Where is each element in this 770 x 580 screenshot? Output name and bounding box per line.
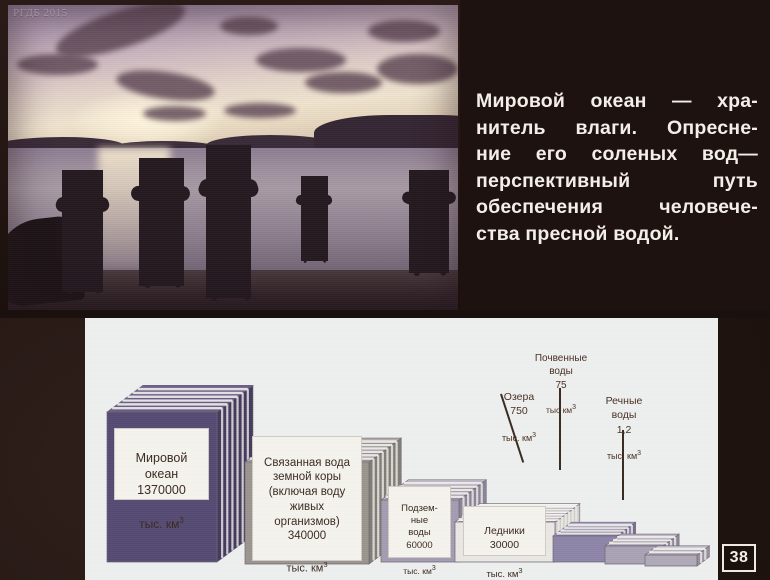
callout-unit: тыс. км [607,451,637,461]
bar-label-unit-row: тыс. км3 [389,554,450,577]
caption-line: обеспечения человече- [466,194,764,221]
unit-superscript: 3 [179,516,183,525]
photo-figure-silhouette [301,176,328,261]
unit-superscript: 3 [532,432,536,439]
photo-cloud [256,48,346,72]
bar-label-unit: тыс. км [139,517,179,531]
caption-line: ние его соленых вод— [466,141,764,168]
bar-label-text: Подзем- ные воды 60000 [401,503,438,550]
slide-root: РГДБ 2015 Мировой океан — хра- нитель вл… [0,0,770,580]
bar-block-6 [645,546,709,566]
bar-label-unit: тыс. км [286,563,323,575]
caption-text: Мировой океан — хра- нитель влаги. Опрес… [466,88,764,247]
callout-unit: тыс. км [502,433,532,443]
bar-label-world-ocean: Мировой океан 1370000 тыс. км3 [114,428,209,500]
caption-line: нитель влаги. Опресне- [466,115,764,142]
bar-label-groundwater: Подзем- ные воды 60000 тыс. км3 [388,486,451,558]
page-number-badge: 38 [722,544,756,572]
watermark-text: РГДБ 2015 [13,7,68,19]
bar-label-unit-row: тыс. км3 [115,501,208,533]
bar-label-unit: тыс. км [403,565,432,575]
photo-figure-silhouette [139,158,184,286]
unit-superscript: 3 [572,404,576,411]
photo-figure-silhouette [206,145,251,298]
unit-superscript: 3 [323,560,327,569]
caption-line: ства пресной водой. [466,221,764,248]
photo-cloud [17,54,98,75]
bar-label-text: Связанная вода земной коры (включая воду… [264,457,350,543]
photo-figure-silhouette [409,170,450,274]
photo-sunset-beach: РГДБ 2015 [8,5,458,310]
caption-panel: Мировой океан — хра- нитель влаги. Опрес… [460,0,770,310]
bar-label-crust-bound-water: Связанная вода земной коры (включая воду… [252,436,362,561]
water-reserves-chart: Мировой океан 1370000 тыс. км3 Связанная… [85,318,718,580]
bar-label-unit: тыс. км [486,570,518,580]
callout-river-water: Речные воды 1,2 тыс. км3 [580,380,668,476]
photo-figure-silhouette [62,170,103,292]
photo-cloud [368,20,440,41]
bar-label-unit-row: тыс. км3 [253,546,361,576]
bar-label-text: Мировой океан 1370000 [136,451,188,497]
bar-label-unit-row: тыс. км3 [464,554,545,580]
caption-line: перспективный путь [466,168,764,195]
callout-text: Речные воды 1,2 [606,395,643,435]
unit-superscript: 3 [637,450,641,457]
bar-label-text: Ледники 30000 [484,525,525,550]
caption-line: Мировой океан — хра- [466,88,764,115]
callout-unit-row: тыс. км3 [580,437,668,462]
unit-superscript: 3 [518,566,522,575]
unit-superscript: 3 [432,565,436,572]
bar-label-glaciers: Ледники 30000 тыс. км3 [463,506,546,556]
photo-cloud [377,54,458,85]
callout-unit: тыс км [546,405,572,415]
